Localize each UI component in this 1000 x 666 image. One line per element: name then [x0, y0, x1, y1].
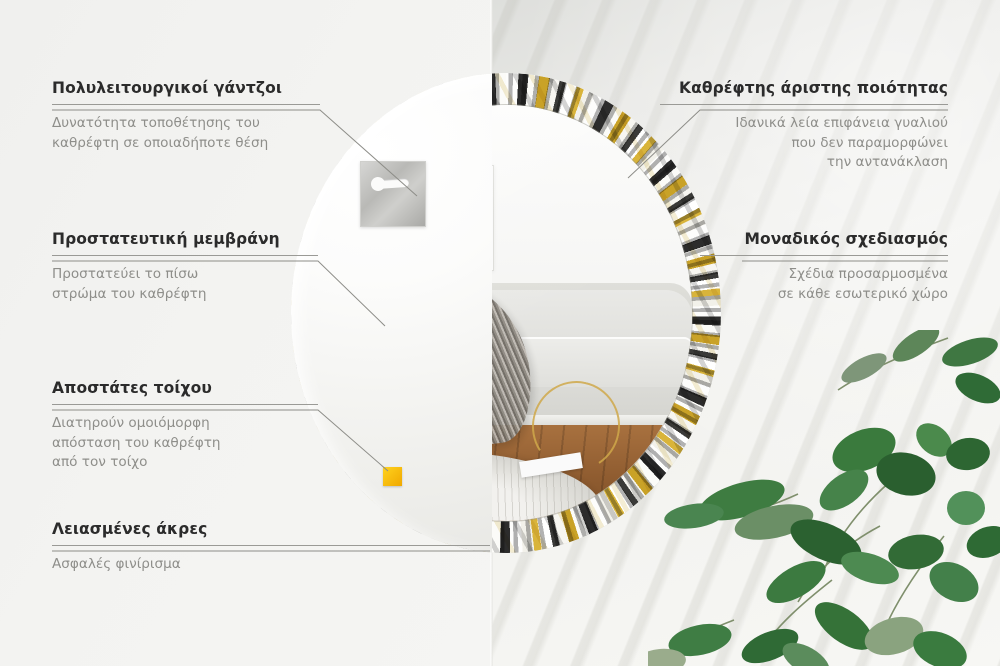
infographic-canvas: Πολυλειτουργικοί γάντζοι Δυνατότητα τοπο…	[0, 0, 1000, 666]
keyhole-slot-icon	[375, 178, 410, 189]
callout-unique-design-title: Μοναδικός σχεδιασμός	[700, 230, 948, 248]
callout-unique-design-rule	[700, 255, 948, 256]
callout-quality-mirror-desc: Ιδανικά λεία επιφάνεια γυαλιούπου δεν πα…	[660, 114, 948, 173]
callout-hooks-desc: Δυνατότητα τοποθέτησης τουκαθρέφτη σε οπ…	[52, 114, 320, 153]
callout-membrane-rule	[52, 255, 318, 256]
callout-spacers-rule	[52, 404, 318, 405]
callout-spacers: Αποστάτες τοίχου Διατηρούν ομοιόμορφηαπό…	[52, 379, 318, 473]
callout-membrane: Προστατευτική μεμβράνη Προστατεύει το πί…	[52, 230, 318, 304]
callout-unique-design-desc: Σχέδια προσαρμοσμένασε κάθε εσωτερικό χώ…	[700, 265, 948, 304]
foliage-svg	[648, 330, 1000, 666]
callout-edges-rule	[52, 545, 490, 546]
callout-unique-design: Μοναδικός σχεδιασμός Σχέδια προσαρμοσμέν…	[700, 230, 948, 304]
callout-spacers-title: Αποστάτες τοίχου	[52, 379, 318, 397]
callout-hooks: Πολυλειτουργικοί γάντζοι Δυνατότητα τοπο…	[52, 79, 320, 153]
metal-hanger-plate	[360, 161, 426, 227]
callout-quality-mirror: Καθρέφτης άριστης ποιότητας Ιδανικά λεία…	[660, 79, 948, 173]
callout-hooks-rule	[52, 104, 320, 105]
callout-membrane-desc: Προστατεύει το πίσωστρώμα του καθρέφτη	[52, 265, 318, 304]
callout-edges-title: Λειασμένες άκρες	[52, 520, 490, 538]
callout-edges: Λειασμένες άκρες Ασφαλές φινίρισμα	[52, 520, 490, 575]
yellow-wall-spacer	[383, 467, 402, 486]
callout-hooks-title: Πολυλειτουργικοί γάντζοι	[52, 79, 320, 97]
callout-membrane-title: Προστατευτική μεμβράνη	[52, 230, 318, 248]
callout-spacers-desc: Διατηρούν ομοιόμορφηαπόσταση του καθρέφτ…	[52, 414, 318, 473]
eucalyptus-foliage	[648, 330, 1000, 666]
callout-edges-desc: Ασφαλές φινίρισμα	[52, 555, 490, 575]
callout-quality-mirror-rule	[660, 104, 948, 105]
callout-quality-mirror-title: Καθρέφτης άριστης ποιότητας	[660, 79, 948, 97]
